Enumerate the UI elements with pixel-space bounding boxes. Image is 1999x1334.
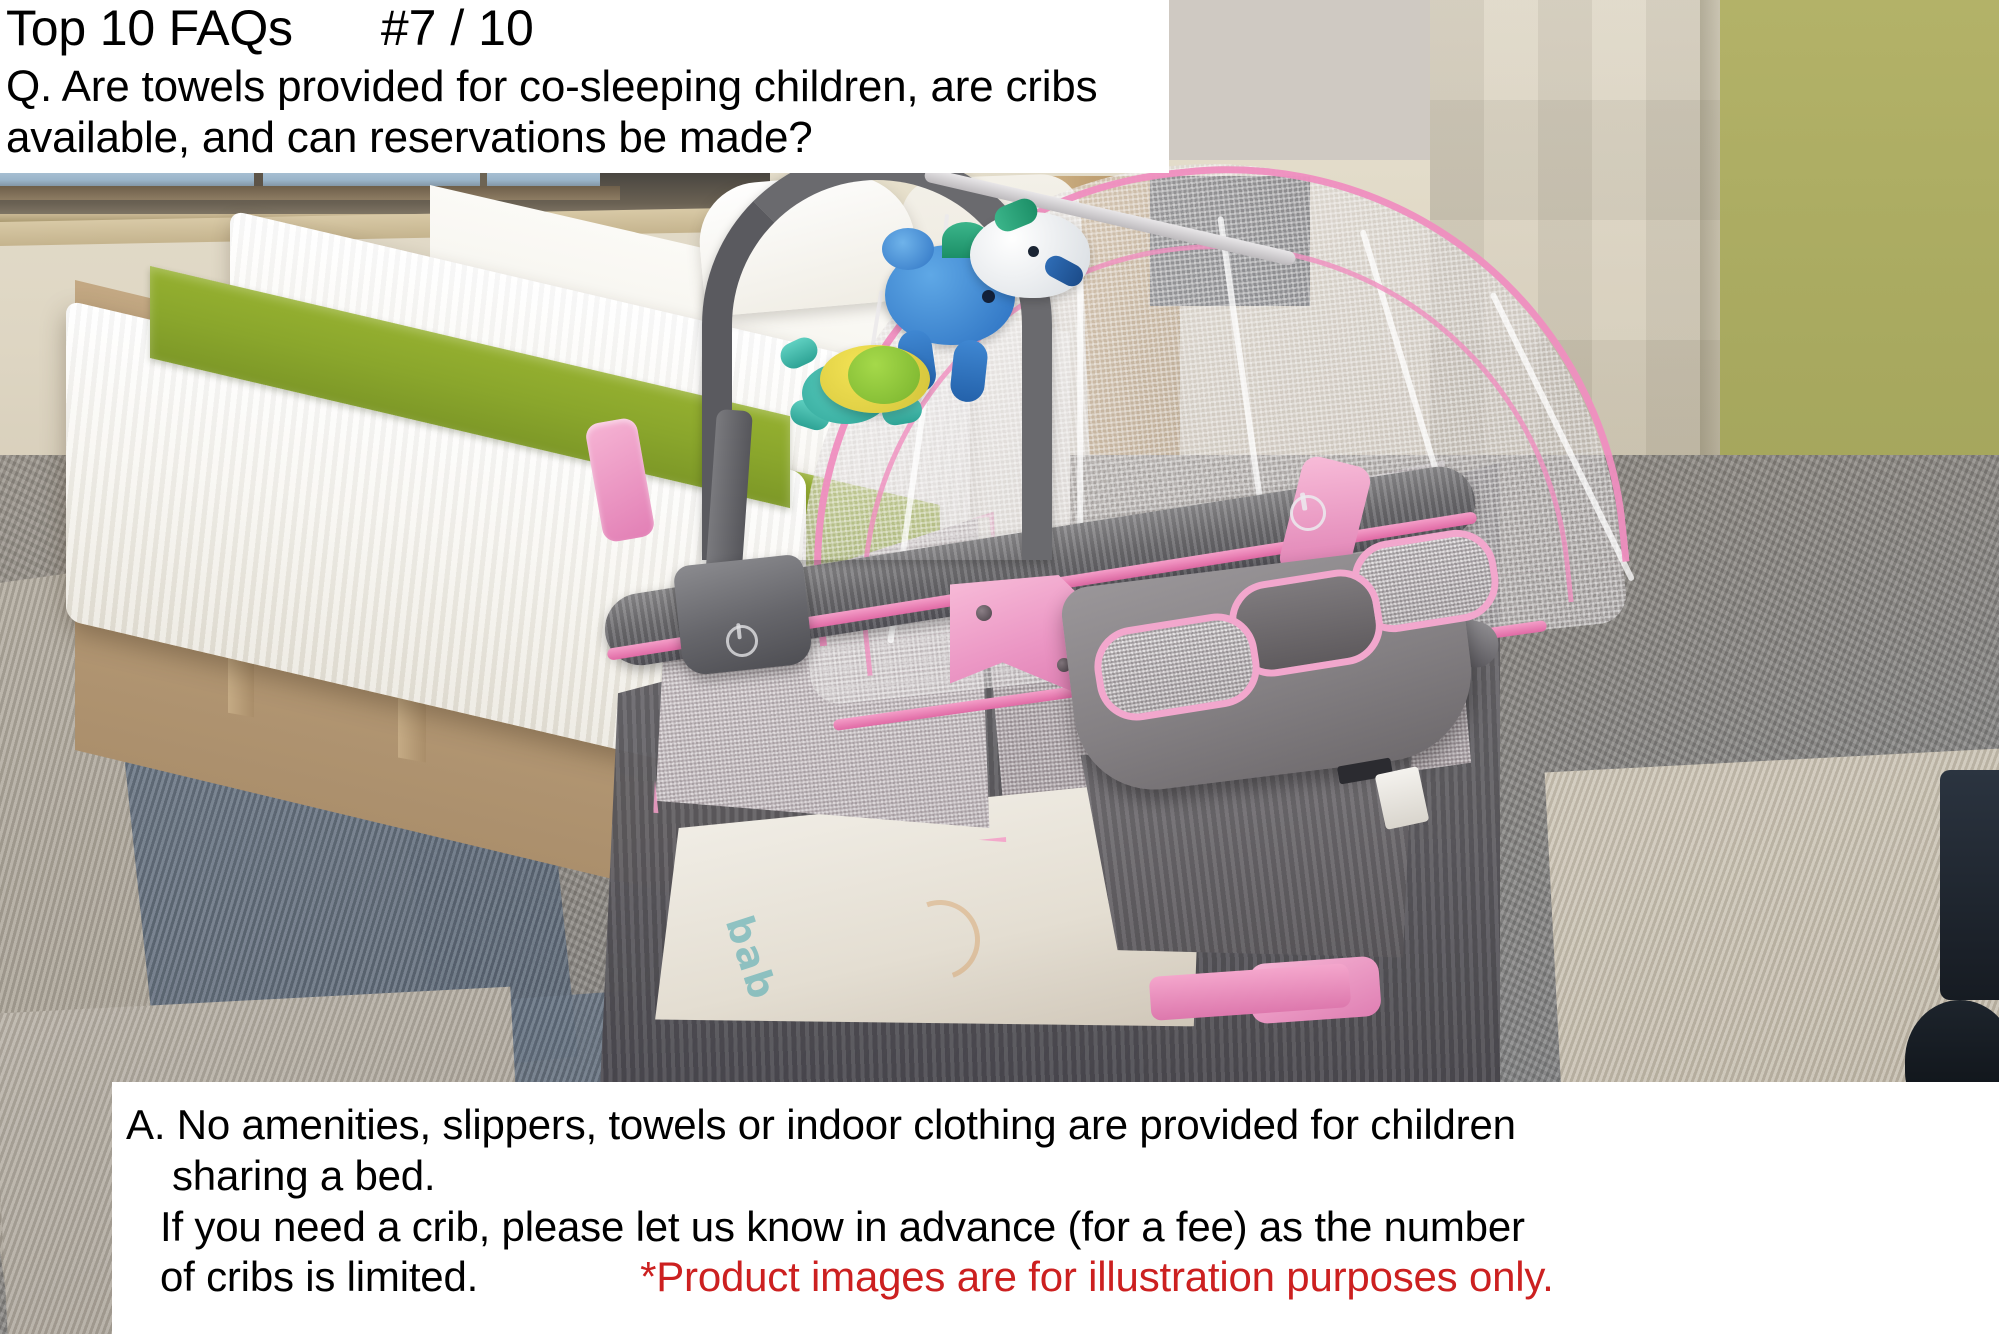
page-title: Top 10 FAQs [6,2,293,55]
answer-line-4: of cribs is limited. [126,1252,478,1303]
plush-toy-turtle-body [848,346,920,404]
answer-line-3: If you need a crib, please let us know i… [126,1202,1999,1253]
disclaimer-text: *Product images are for illustration pur… [640,1253,1553,1301]
answer-line-1: A. No amenities, slippers, towels or ind… [126,1100,1999,1151]
baby-crib-playard: bab [590,150,1590,1080]
answer-banner: A. No amenities, slippers, towels or ind… [112,1082,1999,1334]
crib-corner-hinge [584,416,656,543]
dark-object-floor [1940,770,1999,1000]
question-banner: Top 10 FAQs #7 / 10 Q. Are towels provid… [0,0,1169,173]
crib-mobile-mount [673,554,814,677]
plush-toy-ear [882,228,934,270]
hinge-screw-icon [976,605,992,621]
window-blind [0,186,620,200]
faq-counter: #7 / 10 [381,2,534,55]
answer-line-2: sharing a bed. [126,1151,1999,1202]
question-text: Q. Are towels provided for co-sleeping c… [0,55,1169,163]
plush-toy-eye-icon [982,290,995,303]
answer-last-row: of cribs is limited. *Product images are… [126,1252,1999,1303]
screenshot-root: bab [0,0,1999,1334]
plush-toy-eye-icon [1028,246,1039,257]
question-header-row: Top 10 FAQs #7 / 10 [0,2,1169,55]
